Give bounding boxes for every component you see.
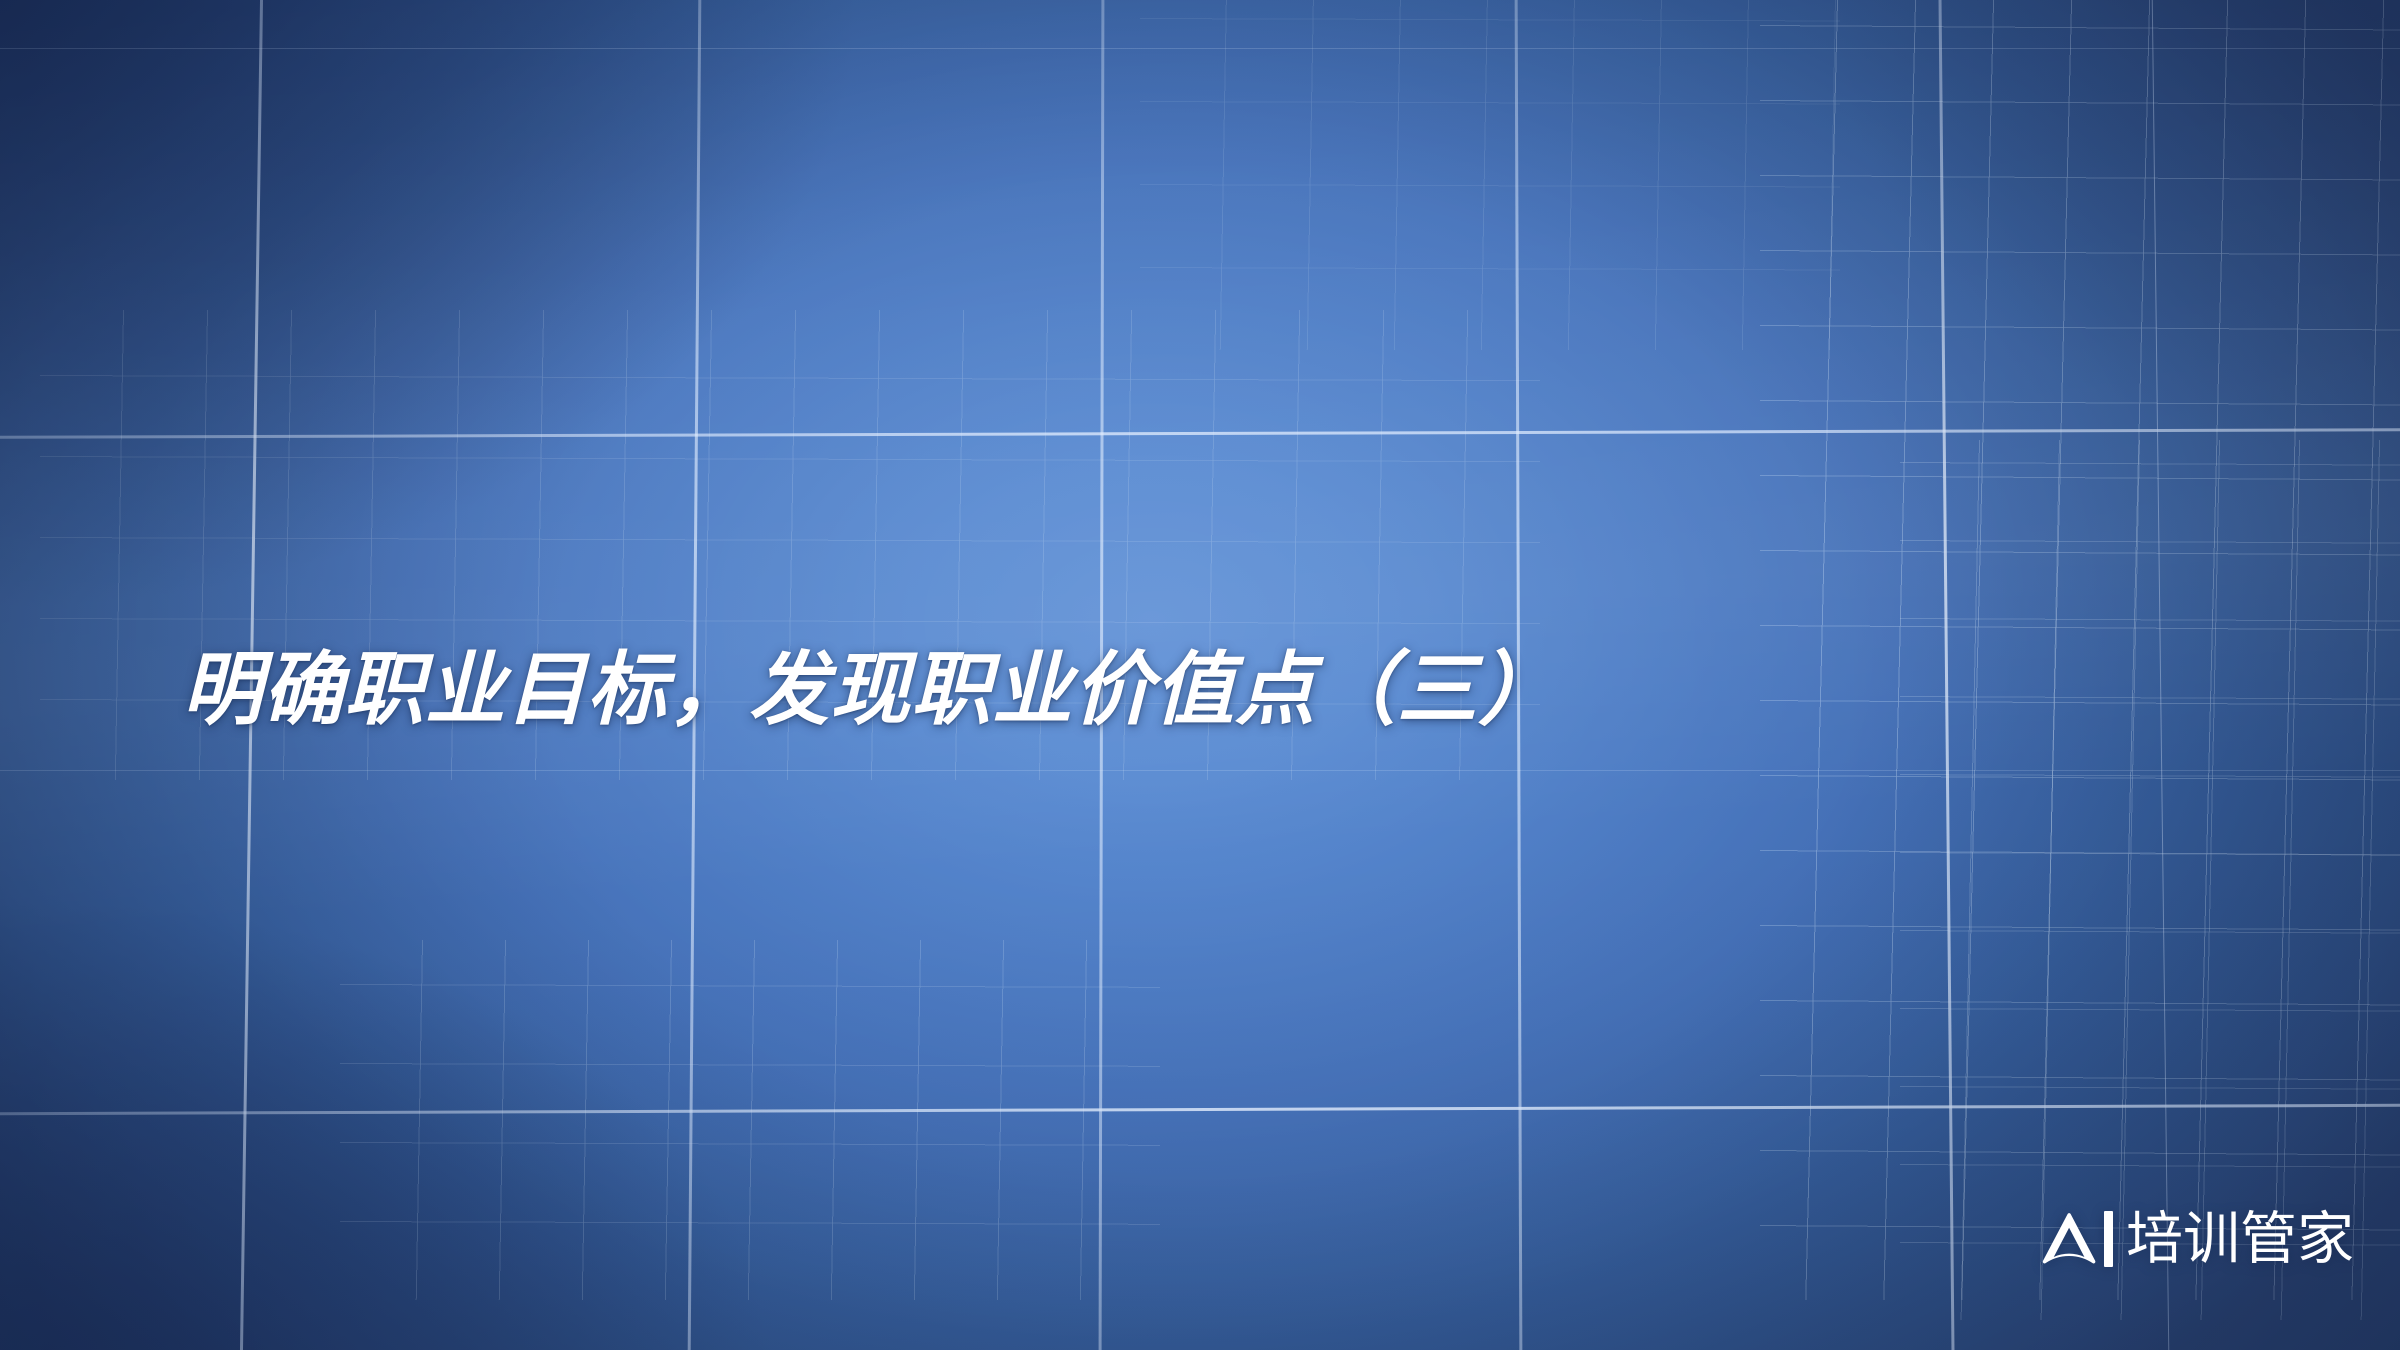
logo-text: 培训管家 xyxy=(2126,1211,2354,1268)
ai-triangle-mark-icon xyxy=(2038,1208,2100,1270)
logo-vertical-bar-icon xyxy=(2104,1211,2113,1267)
brand-logo: 培训管家 xyxy=(2038,1208,2354,1270)
slide-title: 明确职业目标，发现职业价值点（三） xyxy=(182,648,1942,733)
slide-canvas: 明确职业目标，发现职业价值点（三） 培训管家 xyxy=(0,0,2400,1350)
